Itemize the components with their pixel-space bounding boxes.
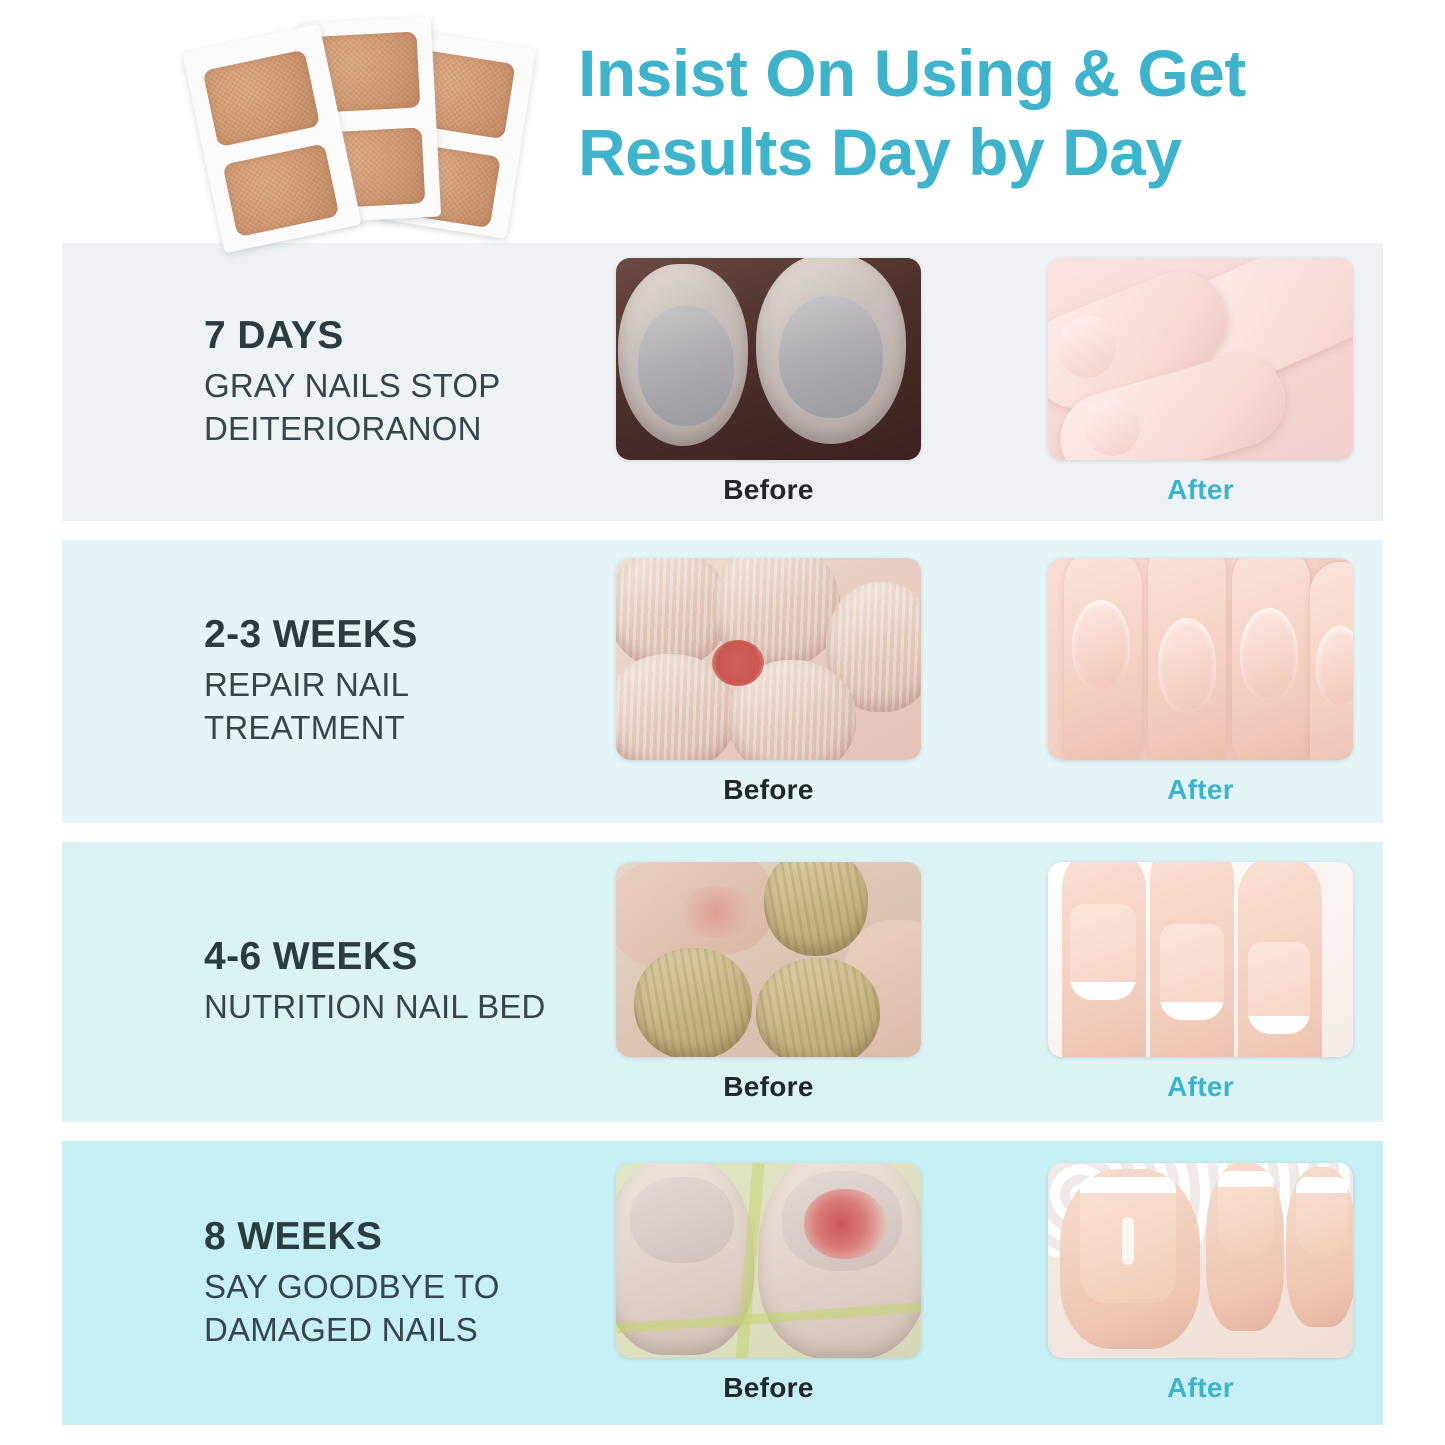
before-photo — [616, 862, 921, 1057]
before-after-comparison: Before After — [607, 558, 1383, 806]
after-caption: After — [1048, 474, 1353, 506]
before-caption: Before — [616, 1071, 921, 1103]
after-caption: After — [1048, 774, 1353, 806]
row-text-block: 2-3 WEEKS REPAIR NAIL TREATMENT — [62, 613, 607, 750]
after-pane: After — [1048, 862, 1353, 1103]
period-label: 8 WEEKS — [204, 1215, 607, 1259]
before-pane: Before — [616, 558, 921, 806]
infographic-page: Insist On Using & Get Results Day by Day… — [0, 0, 1445, 1445]
period-label: 4-6 WEEKS — [204, 935, 607, 979]
before-pane: Before — [616, 862, 921, 1103]
after-caption: After — [1048, 1071, 1353, 1103]
page-title: Insist On Using & Get Results Day by Day — [578, 34, 1368, 192]
after-pane: After — [1048, 1163, 1353, 1404]
product-image-patches — [196, 14, 526, 242]
before-pane: Before — [616, 1163, 921, 1404]
period-description: GRAY NAILS STOP DEITERIORANON — [204, 365, 607, 451]
after-pane: After — [1048, 558, 1353, 806]
after-photo — [1048, 862, 1353, 1057]
period-label: 7 DAYS — [204, 314, 607, 358]
after-caption: After — [1048, 1372, 1353, 1404]
period-description: REPAIR NAIL TREATMENT — [204, 664, 607, 750]
row-text-block: 7 DAYS GRAY NAILS STOP DEITERIORANON — [62, 314, 607, 451]
after-photo — [1048, 1163, 1353, 1358]
after-photo — [1048, 558, 1353, 760]
before-photo — [616, 558, 921, 760]
before-after-comparison: Before After — [607, 1163, 1383, 1404]
before-after-comparison: Before After — [607, 862, 1383, 1103]
before-caption: Before — [616, 1372, 921, 1404]
adhesive-patch — [202, 49, 320, 147]
timeline-row-8-weeks: 8 WEEKS SAY GOODBYE TO DAMAGED NAILS Bef… — [62, 1141, 1383, 1425]
timeline-row-7-days: 7 DAYS GRAY NAILS STOP DEITERIORANON Bef… — [62, 243, 1383, 521]
before-caption: Before — [616, 774, 921, 806]
before-photo — [616, 258, 921, 460]
header: Insist On Using & Get Results Day by Day — [0, 0, 1445, 243]
after-photo — [1048, 258, 1353, 460]
row-text-block: 8 WEEKS SAY GOODBYE TO DAMAGED NAILS — [62, 1215, 607, 1352]
period-description: SAY GOODBYE TO DAMAGED NAILS — [204, 1266, 607, 1352]
after-pane: After — [1048, 258, 1353, 506]
timeline-row-2-3-weeks: 2-3 WEEKS REPAIR NAIL TREATMENT Before A… — [62, 540, 1383, 823]
adhesive-patch — [222, 143, 339, 237]
before-photo — [616, 1163, 921, 1358]
period-description: NUTRITION NAIL BED — [204, 986, 607, 1029]
before-after-comparison: Before After — [607, 258, 1383, 506]
row-text-block: 4-6 WEEKS NUTRITION NAIL BED — [62, 935, 607, 1029]
period-label: 2-3 WEEKS — [204, 613, 607, 657]
before-pane: Before — [616, 258, 921, 506]
timeline-row-4-6-weeks: 4-6 WEEKS NUTRITION NAIL BED Before Afte… — [62, 842, 1383, 1122]
before-caption: Before — [616, 474, 921, 506]
